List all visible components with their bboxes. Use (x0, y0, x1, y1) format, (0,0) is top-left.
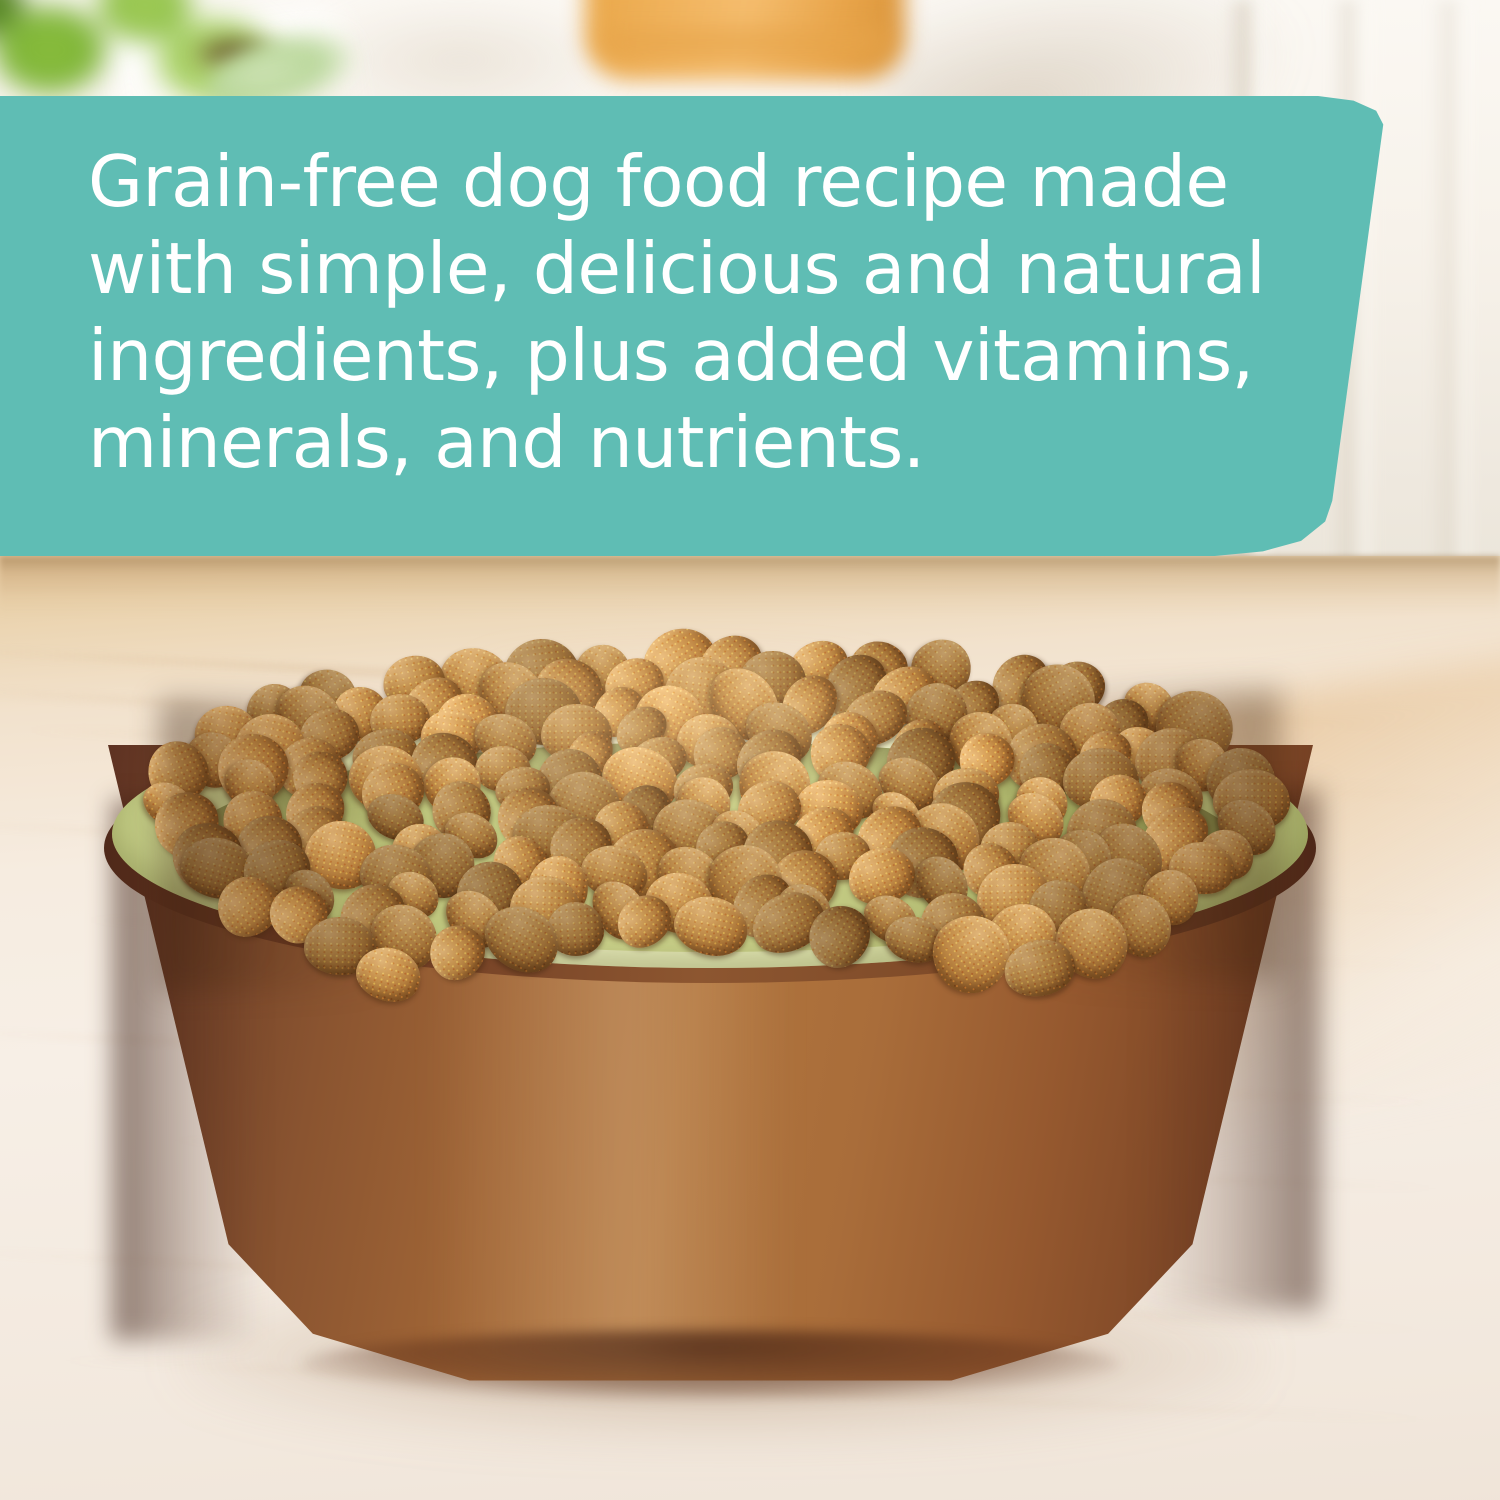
product-image-scene: Grain-free dog food recipe made with sim… (0, 0, 1500, 1500)
bowl-foot-shadow (300, 1330, 1120, 1400)
dry-dog-food-kibble (160, 640, 1265, 985)
caption-banner-inner: Grain-free dog food recipe made with sim… (0, 96, 1396, 556)
caption-text: Grain-free dog food recipe made with sim… (88, 138, 1343, 486)
caption-banner: Grain-free dog food recipe made with sim… (0, 96, 1396, 556)
